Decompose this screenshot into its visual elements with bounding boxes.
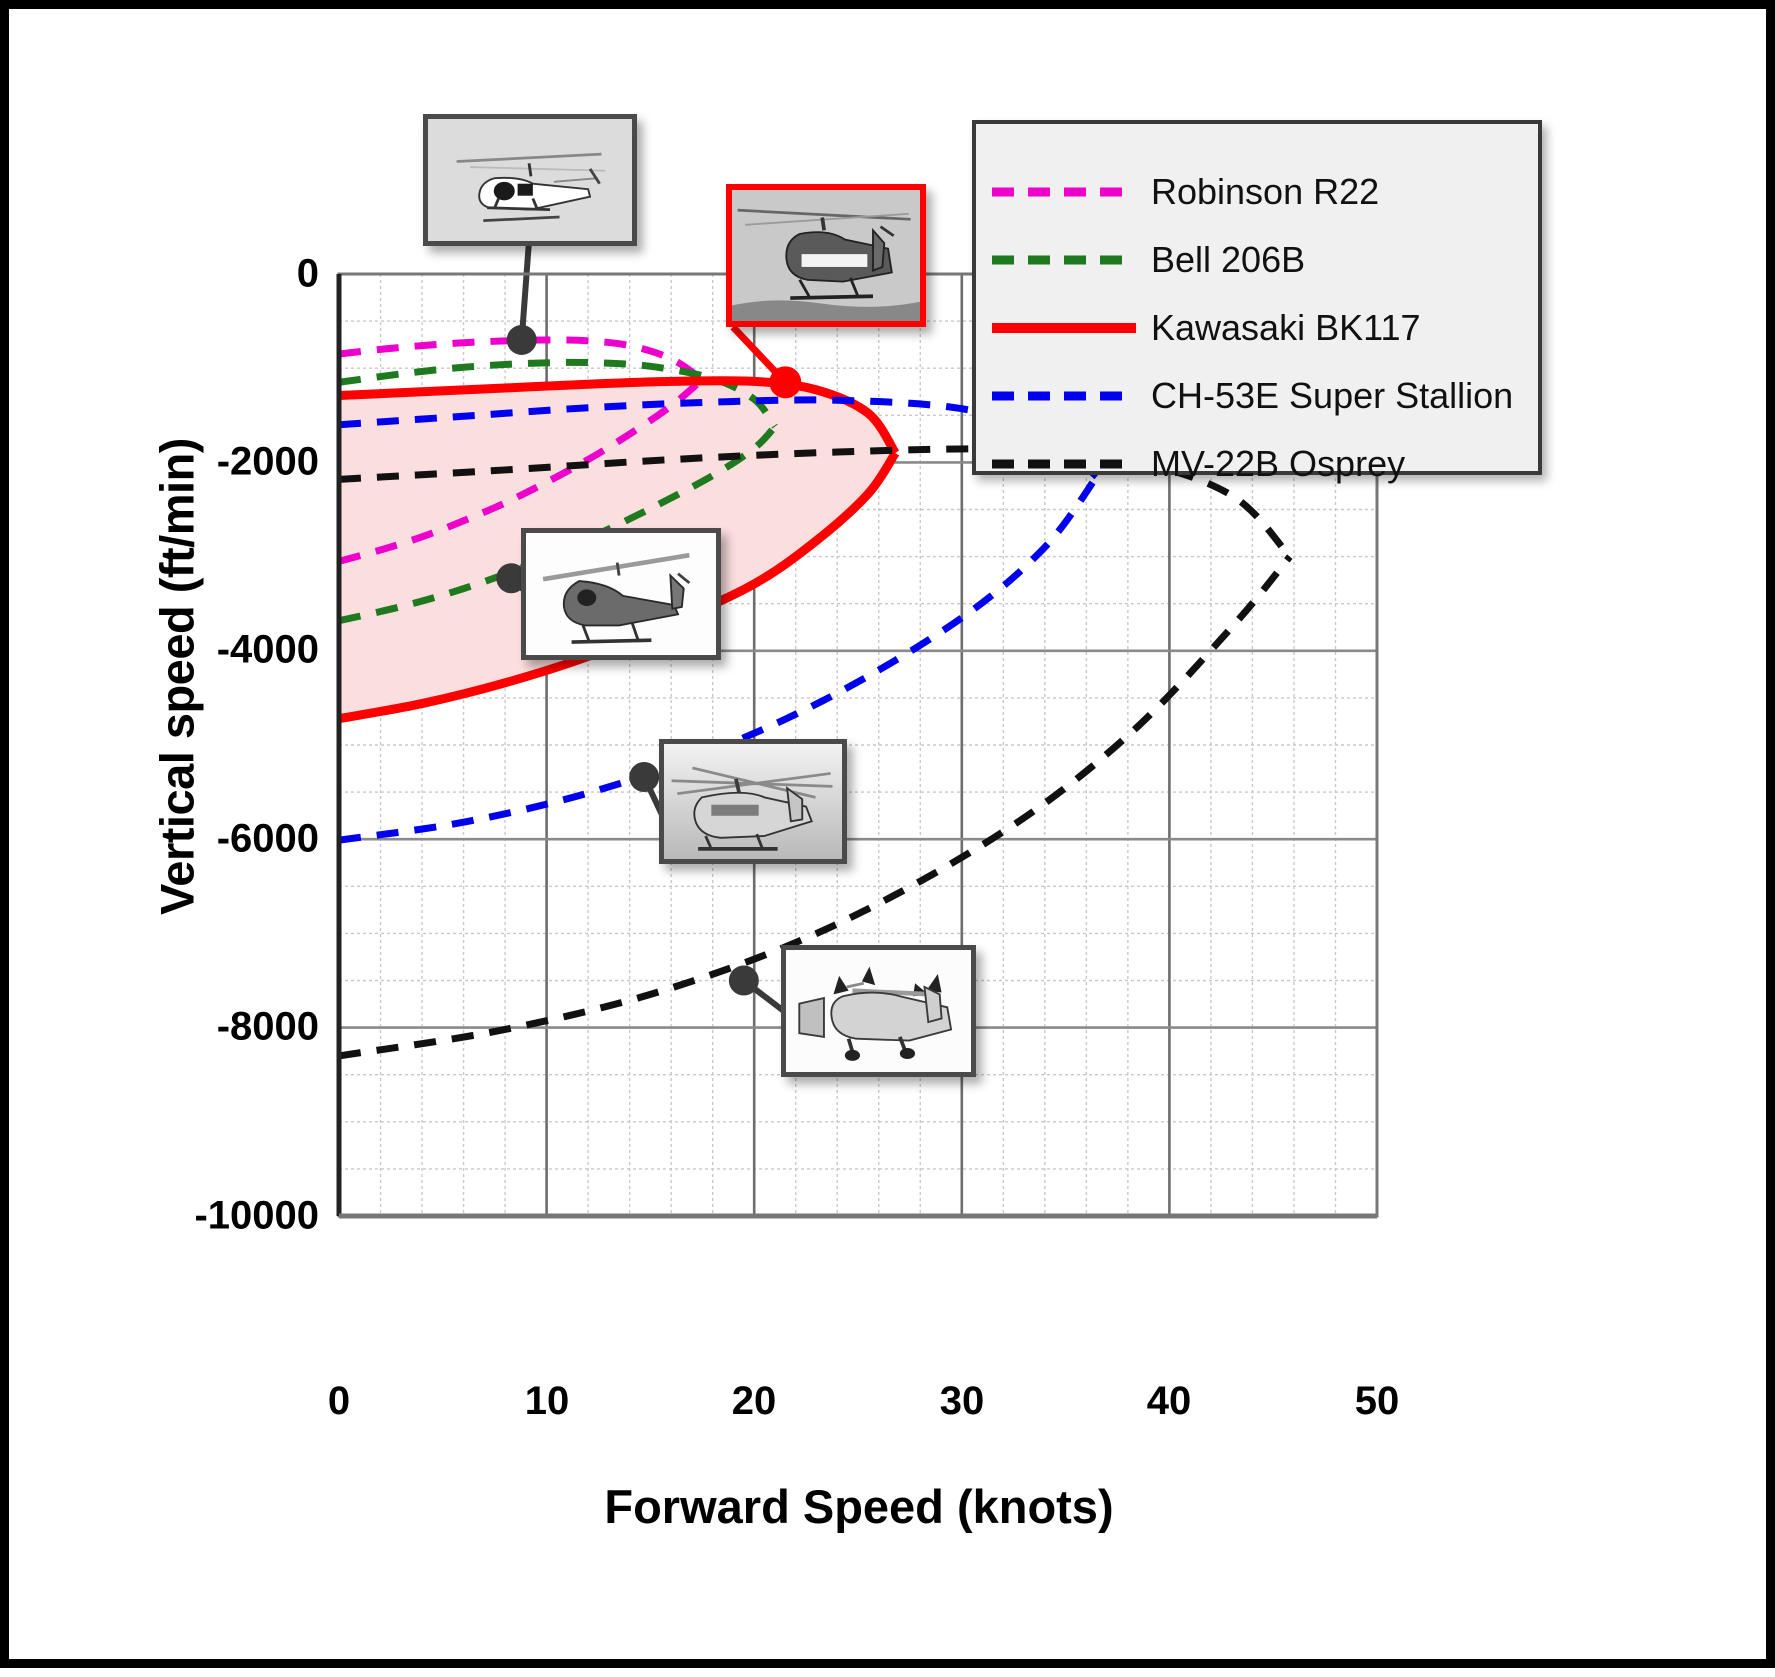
kawasaki-bk117-image — [732, 190, 920, 321]
bell-206b-image — [526, 533, 716, 655]
ch53e-image — [664, 744, 842, 859]
legend-label-bell-206b: Bell 206B — [1151, 239, 1305, 281]
chart-stage: Vertical speed (ft/min) 0 -2000 -4000 -6… — [9, 9, 1775, 1677]
legend-label-kawasaki-bk117: Kawasaki BK117 — [1151, 307, 1421, 349]
legend-swatch-kawasaki-bk117 — [976, 321, 1151, 335]
mv22b-image — [786, 950, 971, 1072]
ch53e-photo[interactable] — [659, 739, 847, 864]
dashed-line-icon — [989, 185, 1139, 199]
dashed-line-icon — [989, 389, 1139, 403]
legend-swatch-bell-206b — [976, 253, 1151, 267]
robinson-r22-image — [428, 119, 632, 241]
legend-item-bell-206b[interactable]: Bell 206B — [976, 230, 1538, 290]
legend-swatch-robinson-r22 — [976, 185, 1151, 199]
legend-item-robinson-r22[interactable]: Robinson R22 — [976, 162, 1538, 222]
legend[interactable]: Robinson R22 Bell 206B Kawasaki BK117 — [972, 120, 1542, 475]
legend-item-mv22b[interactable]: MV-22B Osprey — [976, 434, 1538, 494]
legend-item-ch53e[interactable]: CH-53E Super Stallion — [976, 366, 1538, 426]
legend-swatch-mv22b — [976, 457, 1151, 471]
bell-206b-photo[interactable] — [521, 528, 721, 660]
legend-label-robinson-r22: Robinson R22 — [1151, 171, 1379, 213]
robinson-r22-photo[interactable] — [423, 114, 637, 246]
dashed-line-icon — [989, 457, 1139, 471]
solid-line-icon — [989, 321, 1139, 335]
figure-frame: Vertical speed (ft/min) 0 -2000 -4000 -6… — [0, 0, 1775, 1668]
legend-item-kawasaki-bk117[interactable]: Kawasaki BK117 — [976, 298, 1538, 358]
dashed-line-icon — [989, 253, 1139, 267]
legend-label-mv22b: MV-22B Osprey — [1151, 443, 1405, 485]
kawasaki-bk117-photo[interactable] — [726, 184, 926, 327]
legend-swatch-ch53e — [976, 389, 1151, 403]
mv22b-photo[interactable] — [781, 945, 976, 1077]
legend-label-ch53e: CH-53E Super Stallion — [1151, 375, 1513, 417]
